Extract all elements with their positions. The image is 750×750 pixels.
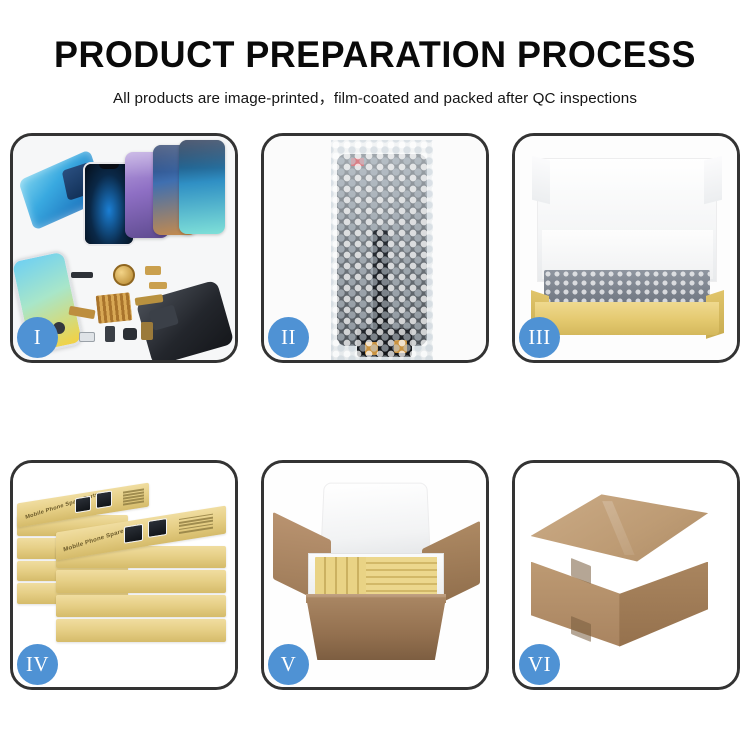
spare-part-image [79,332,95,342]
page-header: PRODUCT PREPARATION PROCESS All products… [0,0,750,108]
printed-box-image [56,619,226,642]
product-preparation-process-page: PRODUCT PREPARATION PROCESS All products… [0,0,750,750]
bubble-texture-overlay [331,140,433,360]
stacked-boxes-image: Mobile Phone Spare Parts [17,485,230,673]
printed-box-image [56,570,226,593]
carton-side-face-image [619,562,708,647]
spare-part-image [71,272,93,278]
kraft-box-front-image [535,302,719,336]
spare-part-image [123,328,137,340]
spare-part-image [145,266,161,275]
box-screen-graphic [97,491,113,509]
process-step-card-5: V [261,460,489,690]
step-number-badge-3: III [519,317,560,358]
step-number-badge-5: V [268,644,309,685]
packed-yellow-boxes-image [366,557,437,597]
spare-part-image [149,282,167,289]
process-step-card-2: II [261,133,489,363]
phone-screen-teal-image [179,140,225,234]
process-step-card-6: VI [512,460,740,690]
printed-box-image [56,595,226,618]
step-number-badge-6: VI [519,644,560,685]
foam-lid-image [320,483,430,558]
bubble-wrap-bag-image [331,140,433,360]
process-step-card-4: Mobile Phone Spare Parts [10,460,238,690]
step-number-badge-4: IV [17,644,58,685]
box-screen-graphic [148,519,167,539]
phone-back-housing-image [136,280,235,360]
carton-body-image [306,597,446,660]
process-steps-grid: I II [10,133,740,690]
speaker-coil-part-image [113,264,135,286]
spare-part-image [141,322,153,340]
connector-chip-part-image [96,292,133,323]
box-screen-graphic [76,496,92,514]
process-step-card-3: III [512,133,740,363]
page-title: PRODUCT PREPARATION PROCESS [11,36,739,75]
bubble-wrapped-contents-image [544,270,711,306]
step-number-badge-2: II [268,317,309,358]
process-step-card-1: I [10,133,238,363]
step-number-badge-1: I [17,317,58,358]
page-subtitle: All products are image-printed，film-coat… [0,86,750,108]
box-screen-graphic [124,524,143,544]
spare-part-image [105,326,115,342]
